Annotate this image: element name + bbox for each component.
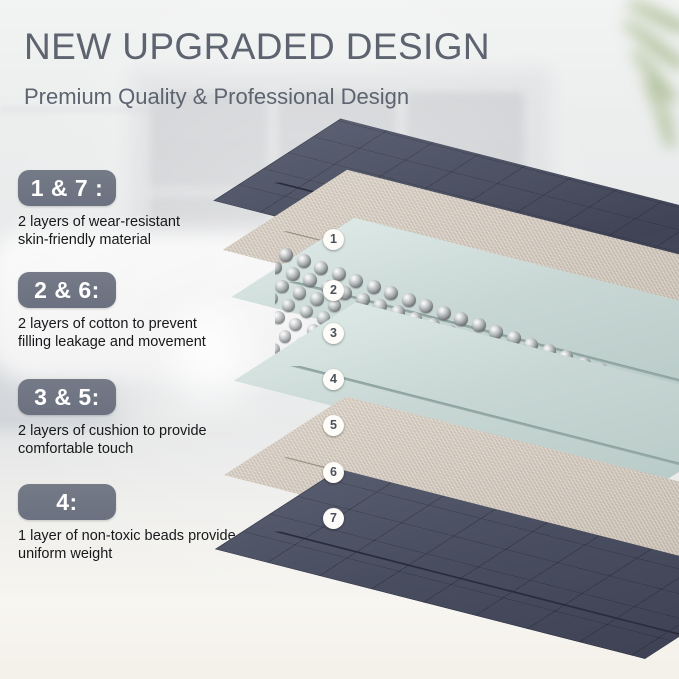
feature-description-3: 2 layers of cushion to provide comfortab… (18, 422, 207, 458)
bead (454, 312, 468, 326)
bead (297, 254, 311, 268)
feature-block-3: 3 & 5: 2 layers of cushion to provide co… (18, 379, 207, 458)
bead (275, 311, 285, 324)
bead (289, 318, 302, 331)
layer-callout-1: 1 (323, 229, 344, 250)
layer-callout-5: 5 (323, 415, 344, 436)
bead (286, 267, 300, 281)
infographic-canvas: NEW UPGRADED DESIGN Premium Quality & Pr… (0, 0, 679, 679)
bead (402, 293, 416, 307)
layer-callout-6: 6 (323, 462, 344, 483)
bead (349, 274, 363, 288)
feature-pill-1: 1 & 7 : (18, 170, 116, 206)
page-title: NEW UPGRADED DESIGN (24, 26, 490, 68)
feature-pill-3: 3 & 5: (18, 379, 116, 415)
feature-block-1: 1 & 7 : 2 layers of wear-resistant skin-… (18, 170, 180, 249)
bead (282, 299, 295, 312)
page-subtitle: Premium Quality & Professional Design (24, 84, 409, 110)
bead (293, 286, 307, 300)
feature-pill-2: 2 & 6: (18, 272, 116, 308)
bead (314, 261, 328, 275)
bead (367, 280, 381, 294)
layer-callout-3: 3 (323, 323, 344, 344)
layer-callout-7: 7 (323, 508, 344, 529)
feature-block-2: 2 & 6: 2 layers of cotton to prevent fil… (18, 272, 206, 351)
bead (279, 330, 292, 343)
bead (275, 261, 282, 275)
bead (275, 280, 289, 294)
bead (279, 248, 293, 262)
bead (472, 318, 486, 332)
layer-callout-2: 2 (323, 280, 344, 301)
feature-block-4: 4: 1 layer of non-toxic beads provide un… (18, 484, 236, 563)
bead (303, 273, 317, 287)
feature-pill-4: 4: (18, 484, 116, 520)
bead (300, 305, 313, 318)
bead (384, 286, 398, 300)
feature-description-1: 2 layers of wear-resistant skin-friendly… (18, 213, 180, 249)
bead (275, 292, 278, 305)
bead (419, 299, 433, 313)
feature-description-2: 2 layers of cotton to prevent filling le… (18, 315, 206, 351)
bead (437, 306, 451, 320)
layer-callout-4: 4 (323, 369, 344, 390)
feature-description-4: 1 layer of non-toxic beads provide unifo… (18, 527, 236, 563)
bead (310, 292, 324, 306)
layer-stack-diagram: 1 2 3 4 5 6 7 (255, 112, 679, 612)
